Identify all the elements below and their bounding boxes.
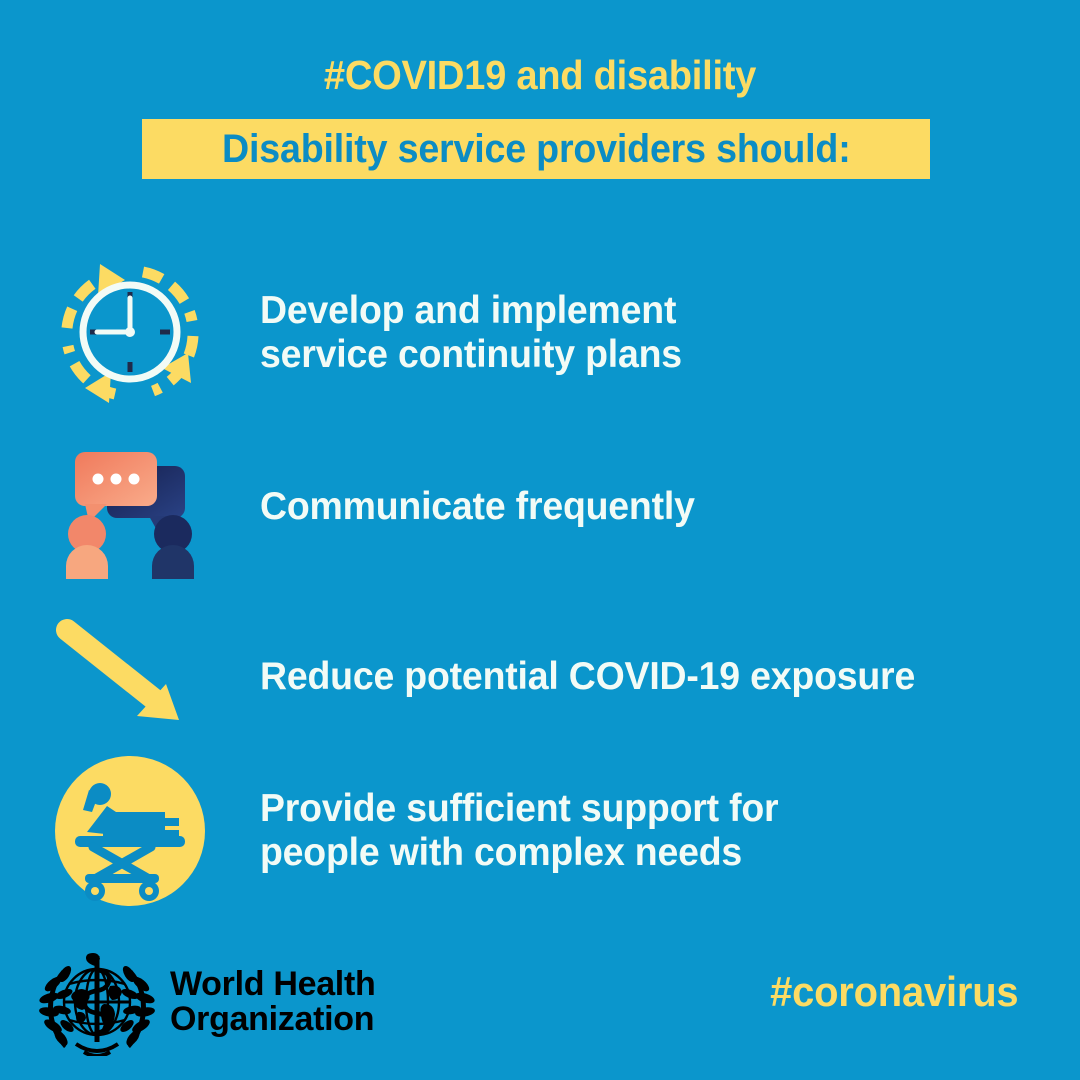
icon-cell (0, 612, 260, 742)
list-item: Communicate frequently (0, 432, 1080, 582)
laurel-left (38, 964, 76, 1048)
coronavirus-hashtag: #coronavirus (770, 968, 1018, 1016)
list-item-label: Develop and implement service continuity… (260, 289, 682, 376)
list-item-label: Reduce potential COVID-19 exposure (260, 655, 915, 699)
list-item: Provide sufficient support for people wi… (0, 752, 1080, 910)
stretcher-patient-icon (45, 752, 215, 910)
down-right-arrow-icon (45, 612, 215, 742)
list-item-label: Communicate frequently (260, 485, 695, 529)
poster-canvas: #COVID19 and disability Disability servi… (0, 0, 1080, 1080)
clock-hands (97, 298, 130, 332)
icon-cell (0, 432, 260, 582)
list-item: Reduce potential COVID-19 exposure (0, 612, 1080, 742)
person-right (152, 515, 194, 579)
banner: Disability service providers should: (142, 119, 930, 179)
list-item: Develop and implement service continuity… (0, 258, 1080, 408)
clock-cycle-icon (45, 258, 215, 408)
page-title: #COVID19 and disability (38, 52, 1042, 99)
icon-cell (0, 258, 260, 408)
who-wordmark: World Health Organization (170, 967, 375, 1036)
wreath-base (76, 1044, 118, 1056)
list-item-label: Provide sufficient support for people wi… (260, 787, 778, 874)
icon-cell (0, 752, 260, 910)
people-talking-icon (45, 432, 215, 582)
who-emblem-icon (38, 948, 156, 1056)
clock-center (125, 327, 135, 337)
who-logo: World Health Organization (38, 948, 375, 1056)
laurel-right (118, 964, 156, 1048)
person-left (66, 515, 108, 579)
banner-text: Disability service providers should: (222, 127, 850, 172)
